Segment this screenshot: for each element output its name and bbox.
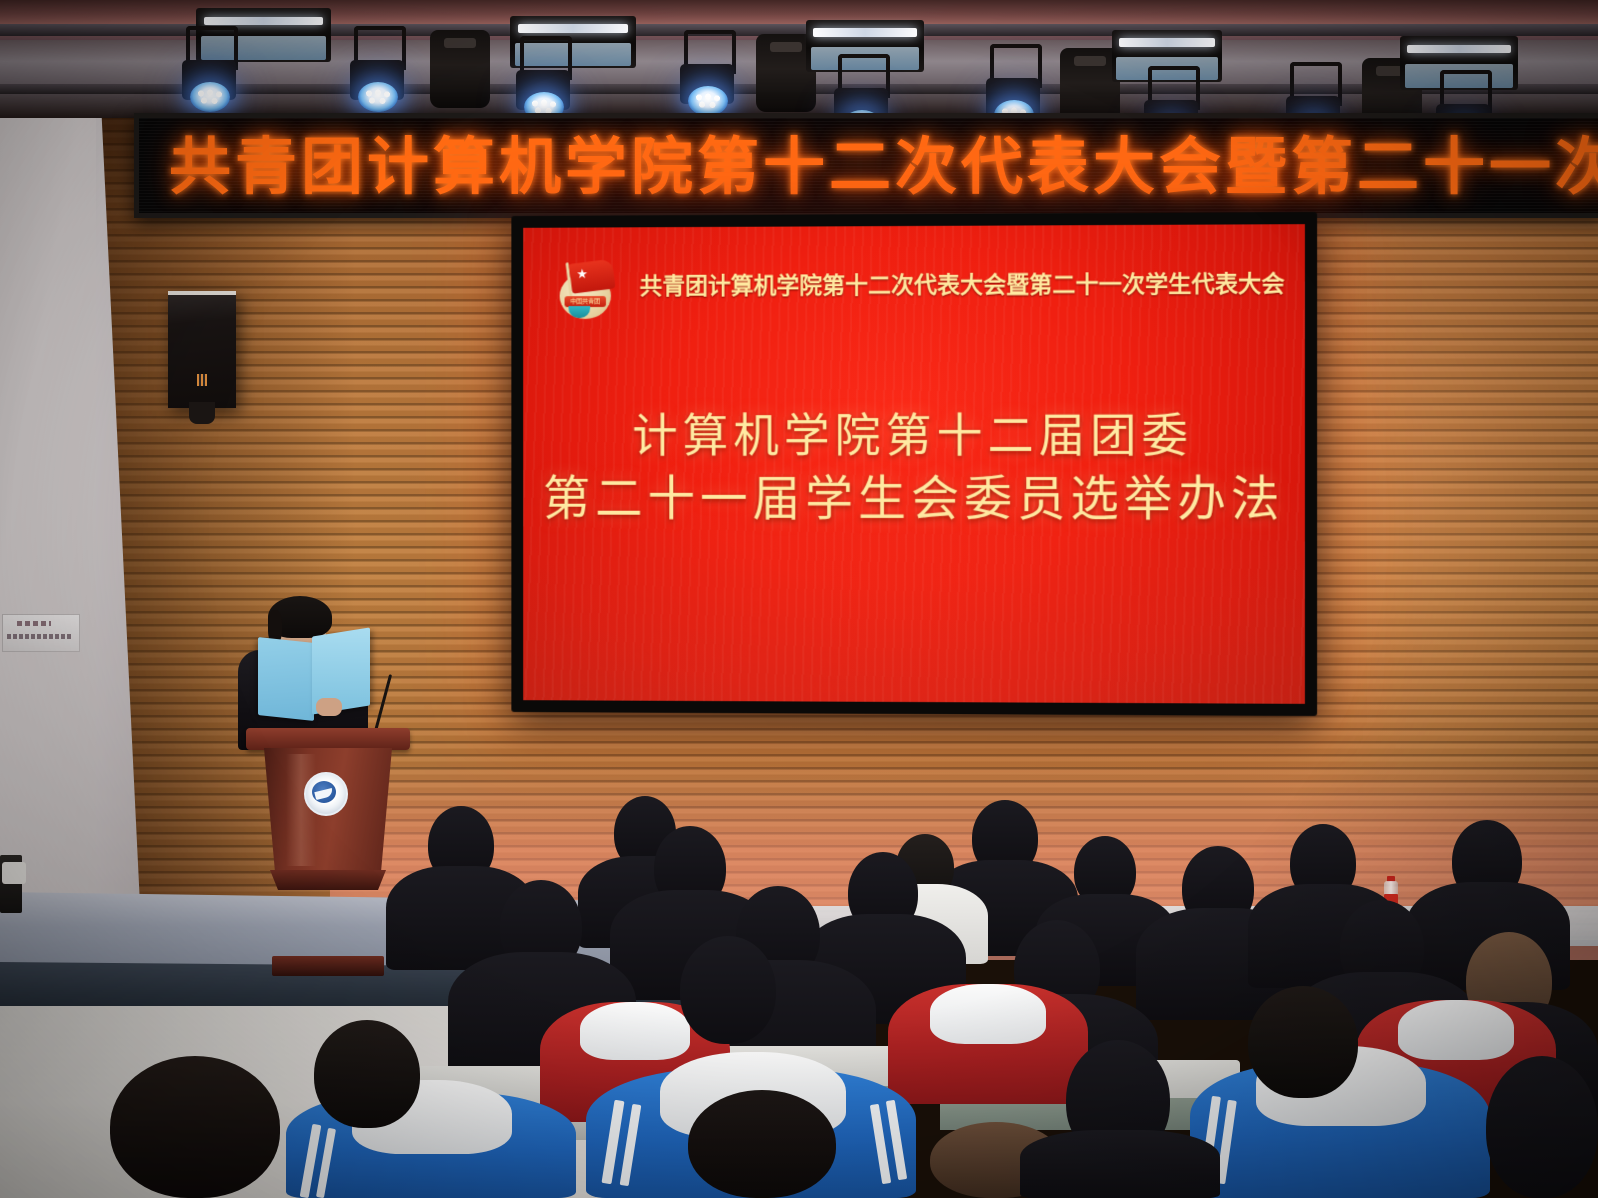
presenter-hand <box>316 698 342 716</box>
presenter-document-folder <box>258 632 370 718</box>
uniform-hood <box>930 984 1046 1044</box>
podium-column <box>286 888 370 962</box>
panel-light-strip <box>1119 38 1216 46</box>
slide-title: 计算机学院第十二届团委 第二十一届学生会委员选举办法 <box>523 404 1305 533</box>
stage-small-object <box>2 862 26 884</box>
podium-top <box>246 728 410 750</box>
folder-left-page <box>258 637 314 721</box>
uniform-hood <box>1398 1000 1514 1060</box>
university-crest-icon <box>304 772 348 816</box>
slide-title-line-2: 第二十一届学生会委员选举办法 <box>523 466 1305 533</box>
light-led-array <box>195 88 225 106</box>
uniform-hood <box>580 1002 690 1060</box>
wall-loudspeaker <box>168 291 236 408</box>
projection-screen-frame: ★ 中国共青团 共青团计算机学院第十二次代表大会暨第二十一次学生代表大会 计算机… <box>511 212 1317 716</box>
panel-light-strip <box>813 28 917 36</box>
slide-title-line-1: 计算机学院第十二届团委 <box>523 404 1305 466</box>
audience-head <box>688 1090 836 1198</box>
audience-head <box>110 1056 280 1198</box>
audience-head <box>1248 986 1358 1098</box>
light-led-array <box>363 88 393 106</box>
speaker-mount-bracket <box>189 402 215 424</box>
led-marquee-banner: 共青团计算机学院第十二次代表大会暨第二十一次学生代表大 <box>134 113 1598 218</box>
panel-light-strip <box>204 17 323 26</box>
led-banner-text: 共青团计算机学院第十二次代表大会暨第二十一次学生代表大 <box>169 116 1598 206</box>
emblem-star-icon: ★ <box>576 267 587 280</box>
slide-header-text: 共青团计算机学院第十二次代表大会暨第二十一次学生代表大会 <box>640 265 1281 301</box>
wall-sign-plaque <box>2 614 80 652</box>
moving-head-light <box>430 30 490 108</box>
projection-screen: ★ 中国共青团 共青团计算机学院第十二次代表大会暨第二十一次学生代表大会 计算机… <box>523 224 1305 704</box>
side-wall-face <box>0 0 96 900</box>
panel-light-strip <box>518 24 629 32</box>
plaque-line-1 <box>17 621 51 626</box>
audience-head <box>314 1020 420 1128</box>
podium-foot <box>272 956 384 976</box>
audience-head <box>1486 1056 1598 1198</box>
communist-youth-league-emblem-icon: ★ 中国共青团 <box>557 259 618 321</box>
light-led-array <box>693 92 723 110</box>
auditorium-photo: 共青团计算机学院第十二次代表大会暨第二十一次学生代表大 ★ 中国共青团 共青团计… <box>0 0 1598 1198</box>
speaker-brand-logo <box>197 374 207 386</box>
audience-shoulders <box>1020 1130 1220 1198</box>
panel-light-strip <box>1407 45 1511 54</box>
audience-head <box>680 936 776 1044</box>
podium-base-molding <box>270 870 386 890</box>
plaque-line-2 <box>7 634 73 639</box>
